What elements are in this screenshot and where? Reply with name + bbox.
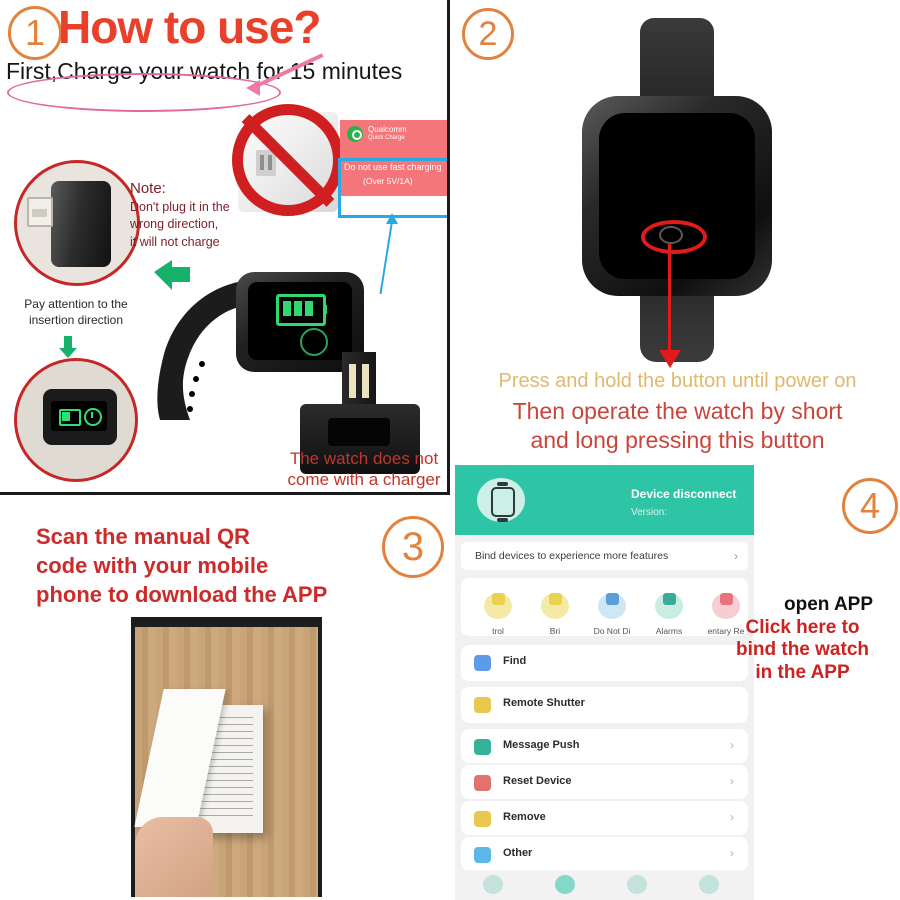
manual-photo [131,617,322,897]
note-body: Don't plug it in the wrong direction, it… [130,199,230,251]
step-badge-4: 4 [842,478,898,534]
menu-row[interactable]: Reset Device› [461,765,748,799]
red-arrow-head-icon [659,350,681,368]
chevron-right-icon: › [730,774,734,788]
menu-row[interactable]: Other› [461,837,748,871]
camera-icon [474,697,491,713]
app-header: Device disconnect Version: [455,465,754,535]
brightness-icon [484,593,512,619]
hand-holding-manual [135,817,213,897]
other-icon [474,847,491,863]
green-arrow-down-icon [58,336,78,358]
bottom-tab-bar[interactable] [455,870,754,900]
sedentary-reminder-icon-glyph [720,593,733,605]
qualcomm-title: Qualcomm [368,125,407,134]
menu-label: Reset Device [503,775,572,787]
menu-row[interactable]: Remote Shutter [461,687,748,723]
bind-devices-row[interactable]: Bind devices to experience more features… [461,542,748,570]
brightness-icon-glyph [549,593,562,605]
cyan-highlight-box [338,158,450,218]
version-label: Version: [631,507,667,518]
cyan-arrow-head-icon [386,213,398,224]
wooden-table-background [135,627,318,897]
watch-charging-closeup [43,389,117,445]
home-tab-icon[interactable] [555,875,575,894]
menu-row[interactable]: Message Push› [461,729,748,763]
watch-body-closeup [51,181,111,267]
open-app-annotation: open APP [784,594,873,616]
qualcomm-logo-icon [347,126,363,142]
sedentary-reminder-icon [712,593,740,619]
note-heading: Note: [130,180,166,197]
watch-screen-battery [248,282,352,360]
watch-screen [51,401,107,431]
smartwatch-icon [582,96,772,296]
pink-arrow-head-icon [246,80,260,96]
usb-port-icon [27,197,53,227]
unlink-icon [474,811,491,827]
sport-tab-icon[interactable] [627,875,647,894]
charging-battery-inset-photo [14,358,138,482]
find-icon [474,655,491,671]
no-charger-note: The watch does not come with a charger [276,448,450,491]
step-badge-1: 1 [8,6,62,60]
watch-glyph-icon [491,487,515,517]
scan-qr-title: Scan the manual QR code with your mobile… [36,522,327,609]
instruction-sheet: 1 How to use? First,Charge your watch fo… [0,0,900,900]
cyan-arrow-icon [379,215,393,294]
page-title: How to use? [58,0,320,54]
power-on-instruction: Press and hold the button until power on [455,370,900,393]
bind-row-highlight-ellipse-icon [7,73,281,112]
button-highlight-ellipse-icon [641,220,707,254]
red-down-arrow-icon [668,244,671,354]
insertion-direction-caption: Pay attention to the insertion direction [12,296,140,328]
menu-label: Find [503,655,526,667]
bind-devices-label: Bind devices to experience more features [475,550,668,562]
do-not-disturb-icon-glyph [606,593,619,605]
message-push-icon [474,739,491,755]
menu-label: Remote Shutter [503,697,585,709]
menu-label: Message Push [503,739,579,751]
battery-full-icon [276,294,326,326]
menu-label: Other [503,847,532,859]
battery-charging-icon [59,409,81,426]
usb-direction-inset-photo [14,160,140,286]
chevron-right-icon: › [734,549,738,563]
device-status-text: Device disconnect [631,487,736,501]
reset-icon [474,775,491,791]
menu-row[interactable]: Remove› [461,801,748,835]
alarm-icon [655,593,683,619]
chevron-right-icon: › [730,810,734,824]
power-button-icon [300,328,328,356]
usb-prongs-icon [342,352,376,412]
operate-watch-instruction: Then operate the watch by short and long… [455,397,900,455]
panel-how-to-use: 1 How to use? First,Charge your watch fo… [0,0,450,495]
step-badge-3: 3 [382,516,444,578]
brightness-icon-glyph [492,593,505,605]
watch-avatar-icon [477,478,525,522]
chevron-right-icon: › [730,738,734,752]
bind-watch-annotation: Click here to bind the watch in the APP [700,617,900,684]
step-badge-2: 2 [462,8,514,60]
dock-slot [328,418,390,446]
brightness-icon [541,593,569,619]
device-tab-icon[interactable] [483,875,503,894]
profile-tab-icon[interactable] [699,875,719,894]
do-not-disturb-icon [598,593,626,619]
watch-screen-off [599,113,755,279]
chevron-right-icon: › [730,846,734,860]
qualcomm-subtitle: Quick Charge [368,135,405,141]
menu-label: Remove [503,811,546,823]
alarm-icon-glyph [663,593,676,605]
power-icon [84,408,102,426]
